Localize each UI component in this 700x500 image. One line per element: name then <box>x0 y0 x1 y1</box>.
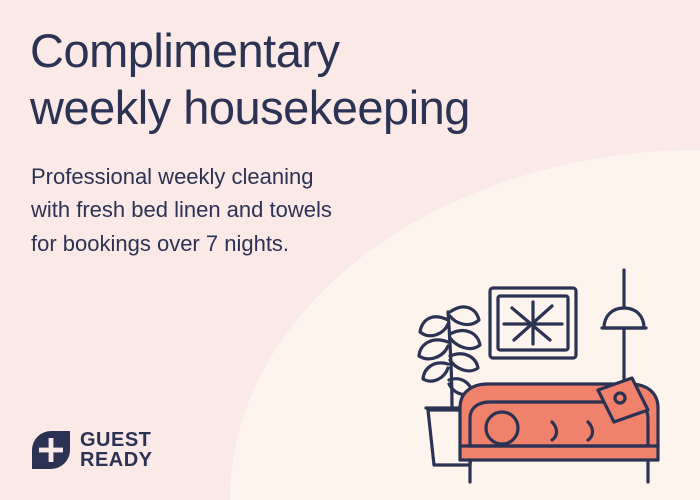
subhead-line-2: with fresh bed linen and towels <box>31 193 451 226</box>
floor-lamp-icon <box>602 270 646 392</box>
headline-line-1: Complimentary <box>30 22 650 79</box>
brand-logo-text-line-1: GUEST <box>80 430 153 450</box>
subheadline: Professional weekly cleaning with fresh … <box>31 160 451 260</box>
page-title: Complimentary weekly housekeeping <box>30 22 650 137</box>
guestready-logo-mark-icon <box>32 431 70 469</box>
living-room-illustration <box>392 250 692 500</box>
brand-logo: GUEST READY <box>32 430 153 470</box>
brand-logo-text: GUEST READY <box>80 430 153 470</box>
brand-logo-text-line-2: READY <box>80 450 153 470</box>
framed-artwork-icon <box>490 288 576 358</box>
headline-line-2: weekly housekeeping <box>30 79 650 136</box>
subhead-line-1: Professional weekly cleaning <box>31 160 451 193</box>
promo-card: Complimentary weekly housekeeping Profes… <box>0 0 700 500</box>
subhead-line-3: for bookings over 7 nights. <box>31 227 451 260</box>
